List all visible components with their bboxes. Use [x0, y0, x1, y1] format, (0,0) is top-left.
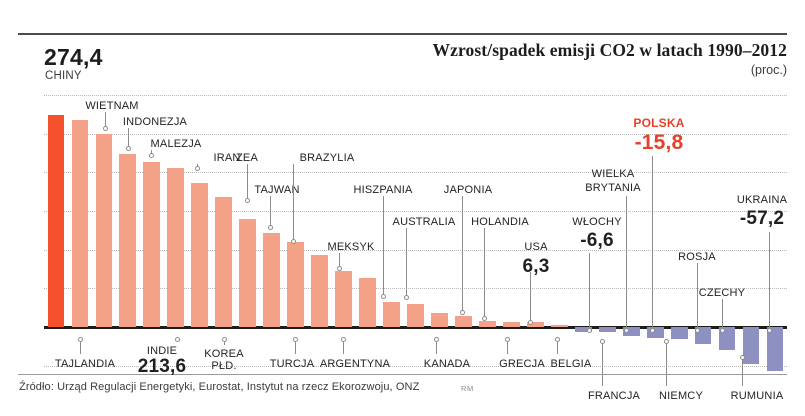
annotation-label: FRANCJA: [588, 390, 640, 402]
leader-line: [247, 164, 248, 200]
leader-line: [177, 340, 178, 342]
annotation-label: USA: [524, 241, 547, 253]
annotation-label: WIELKA: [592, 168, 635, 180]
bar-indie[interactable]: [143, 162, 160, 327]
leader-line: [602, 342, 603, 386]
leader-line: [484, 228, 485, 318]
headline-value: 274,4: [44, 44, 103, 71]
annotation-label: -6,6: [580, 230, 614, 252]
credit-mark: RM: [461, 384, 474, 393]
annotation-label: RUMUNIA: [731, 390, 784, 402]
leader-line: [80, 340, 81, 354]
annotation-label: JAPONIA: [444, 184, 492, 196]
top-divider: [18, 33, 787, 35]
bar-chiny[interactable]: [48, 115, 65, 327]
leader-line: [530, 272, 531, 322]
bar-malezja[interactable]: [167, 168, 184, 327]
annotation-label: AUSTRALIA: [393, 216, 456, 228]
bar-belgia[interactable]: [551, 325, 568, 327]
bar-tajlandia[interactable]: [72, 120, 89, 327]
bar-zea[interactable]: [239, 219, 256, 327]
annotation-label: HOLANDIA: [471, 216, 529, 228]
annotation-label: HISZPANIA: [353, 184, 412, 196]
annotation-label: ARGENTYNA: [320, 358, 390, 370]
annotation-label: BRAZYLIA: [300, 152, 355, 164]
annotation-label: WIETNAM: [85, 100, 138, 112]
annotation-label: MEKSYK: [327, 241, 374, 253]
annotation-label: 213,6: [138, 356, 187, 378]
leader-line: [666, 342, 667, 386]
annotation-label: -15,8: [635, 131, 684, 155]
leader-line: [343, 340, 344, 354]
bar-tajwan[interactable]: [263, 233, 280, 327]
annotation-label: CZECHY: [699, 287, 745, 299]
bar-korea-p-d-[interactable]: [215, 197, 232, 327]
annotation-label: TAJLANDIA: [55, 358, 115, 370]
bar-rumunia[interactable]: [743, 327, 760, 364]
annotation-label: BELGIA: [551, 358, 592, 370]
leader-line: [105, 112, 106, 128]
bar-brazylia[interactable]: [311, 255, 328, 327]
annotation-label: POLSKA: [633, 116, 684, 130]
bar-meksyk[interactable]: [335, 271, 352, 327]
bar-japonia[interactable]: [455, 316, 472, 327]
annotation-label: MALEZJA: [151, 138, 202, 150]
bar-kanada[interactable]: [431, 313, 448, 327]
annotation-label: KANADA: [424, 358, 470, 370]
chart-title: Wzrost/spadek emisji CO2 w latach 1990–2…: [433, 40, 787, 61]
leader-line: [270, 196, 271, 227]
annotation-label: WŁOCHY: [572, 216, 621, 228]
leader-line: [339, 253, 340, 268]
infographic-root: Wzrost/spadek emisji CO2 w latach 1990–2…: [0, 0, 805, 416]
bar-polska[interactable]: [671, 327, 688, 339]
bar-iran[interactable]: [191, 183, 208, 327]
chart-subtitle: (proc.): [751, 63, 787, 77]
bar-australia[interactable]: [407, 304, 424, 327]
bar-ukraina[interactable]: [767, 327, 784, 371]
bar-turcja[interactable]: [287, 242, 304, 327]
annotation-label: PŁD.: [211, 360, 236, 372]
leader-line: [652, 156, 653, 330]
leader-line: [383, 196, 384, 296]
annotation-label: GRECJA: [499, 358, 545, 370]
leader-line: [295, 340, 296, 354]
leader-line: [128, 128, 129, 148]
leader-line: [406, 228, 407, 297]
leader-line: [557, 340, 558, 354]
leader-line: [436, 340, 437, 354]
annotation-label: 6,3: [522, 256, 549, 278]
leader-line: [151, 150, 152, 155]
leader-line: [293, 164, 294, 241]
annotation-label: TURCJA: [270, 358, 315, 370]
bar-grecja[interactable]: [503, 322, 520, 327]
bottom-divider: [18, 374, 787, 375]
annotation-label: -57,2: [740, 208, 784, 230]
annotation-label: INDONEZJA: [123, 116, 187, 128]
annotation-label: KOREA: [204, 348, 244, 360]
annotation-label: ZEA: [236, 152, 258, 164]
annotation-label: ROSJA: [678, 251, 716, 263]
leader-line: [507, 340, 508, 354]
leader-line: [722, 299, 723, 330]
bar-wietnam[interactable]: [96, 134, 113, 327]
bar-w-ochy[interactable]: [599, 327, 616, 332]
annotation-label: NIEMCY: [659, 390, 703, 402]
headline-label: CHINY: [45, 70, 82, 82]
leader-line: [742, 358, 743, 386]
bar-hiszpania[interactable]: [383, 302, 400, 327]
annotation-label: UKRAINA: [737, 194, 787, 206]
leader-line: [224, 340, 225, 345]
bar-argentyna[interactable]: [359, 278, 376, 327]
bar-holandia[interactable]: [479, 321, 496, 327]
leader-line: [769, 232, 770, 330]
leader-line: [626, 196, 627, 330]
leader-line: [197, 164, 198, 168]
leader-line: [589, 253, 590, 330]
leader-line: [462, 196, 463, 312]
gridline: [44, 95, 787, 96]
source-note: Źródło: Urząd Regulacji Energetyki, Euro…: [19, 381, 419, 393]
annotation-label: BRYTANIA: [585, 182, 641, 194]
bar-indonezja[interactable]: [119, 154, 136, 327]
